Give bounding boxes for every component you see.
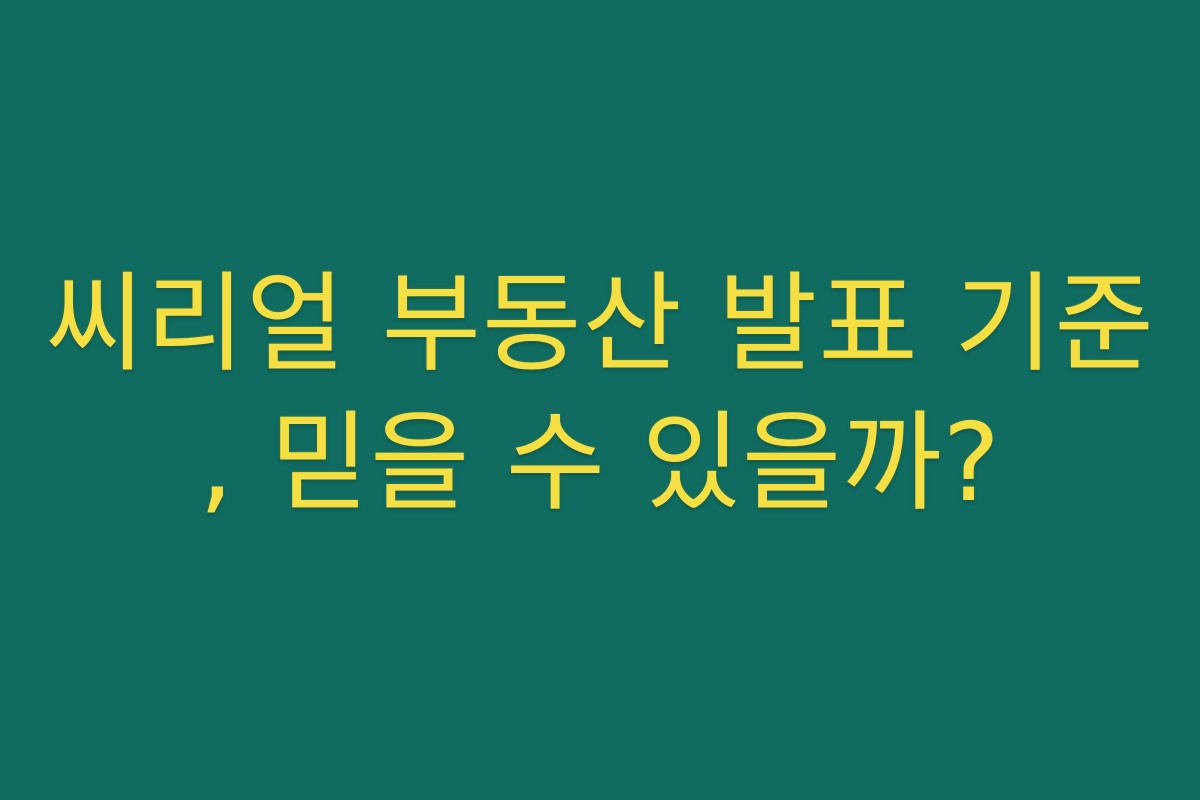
quote-card: 씨리얼 부동산 발표 기준 , 믿을 수 있을까? [0, 0, 1200, 800]
headline-block: 씨리얼 부동산 발표 기준 , 믿을 수 있을까? [40, 255, 1160, 534]
headline-line-1: 씨리얼 부동산 발표 기준 [45, 255, 1155, 394]
headline-line-2: , 믿을 수 있을까? [199, 394, 1001, 533]
